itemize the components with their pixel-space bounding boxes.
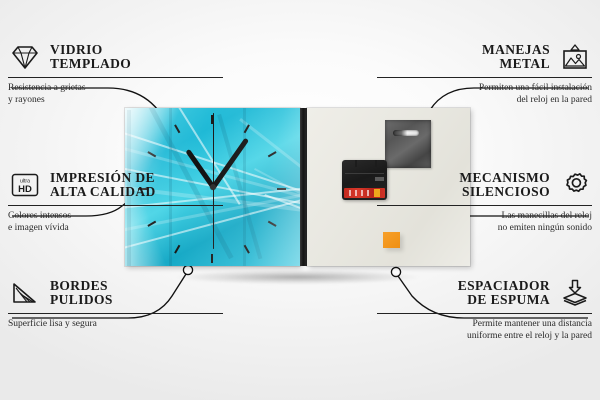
feature-divider — [8, 77, 223, 78]
gear-icon — [558, 170, 592, 200]
feature-divider — [377, 313, 592, 314]
infographic-canvas: VIDRIO TEMPLADO Resistencia a grietas y … — [0, 0, 600, 400]
feature-description: Superficie lisa y segura — [8, 319, 223, 331]
diamond-icon — [8, 42, 42, 72]
feature-description: Colores intensos e imagen vívida — [8, 211, 223, 234]
framed-picture-icon — [558, 42, 592, 72]
foam-spacer-square — [383, 232, 400, 248]
feature-header: ESPACIADOR DE ESPUMA — [377, 278, 592, 308]
arrow-onto-layers-icon — [558, 278, 592, 308]
feature-manejas-metal[interactable]: MANEJAS METAL Permiten una fácil instala… — [377, 42, 592, 106]
feature-description: Permiten una fácil instalación del reloj… — [377, 83, 592, 106]
metal-hanger-plate — [385, 120, 431, 168]
feature-header: MECANISMO SILENCIOSO — [377, 170, 592, 200]
polished-edge-icon — [8, 278, 42, 308]
ultra-hd-badge-icon: ultra HD — [8, 170, 42, 200]
feature-header: ultra HD IMPRESIÓN DE ALTA CALIDAD — [8, 170, 223, 200]
mechanism-hanging-loop — [355, 160, 377, 167]
feature-title: MANEJAS METAL — [482, 43, 550, 71]
feature-description: Resistencia a grietas y rayones — [8, 83, 223, 106]
feature-header: VIDRIO TEMPLADO — [8, 42, 223, 72]
feature-header: MANEJAS METAL — [377, 42, 592, 72]
feature-espaciador-de-espuma[interactable]: ESPACIADOR DE ESPUMA Permite mantener un… — [377, 278, 592, 342]
feature-impresion-alta-calidad[interactable]: ultra HD IMPRESIÓN DE ALTA CALIDAD Color… — [8, 170, 223, 234]
feature-divider — [8, 205, 223, 206]
feature-header: BORDES PULIDOS — [8, 278, 223, 308]
feature-divider — [8, 313, 223, 314]
feature-divider — [377, 77, 592, 78]
feature-mecanismo-silencioso[interactable]: MECANISMO SILENCIOSO Las manecillas del … — [377, 170, 592, 234]
feature-title: VIDRIO TEMPLADO — [50, 43, 131, 71]
feature-title: BORDES PULIDOS — [50, 279, 113, 307]
panel-edge-spine — [300, 108, 307, 266]
svg-text:HD: HD — [18, 184, 32, 195]
feature-title: IMPRESIÓN DE ALTA CALIDAD — [50, 171, 156, 199]
feature-vidrio-templado[interactable]: VIDRIO TEMPLADO Resistencia a grietas y … — [8, 42, 223, 106]
feature-title: ESPACIADOR DE ESPUMA — [458, 279, 550, 307]
feature-description: Las manecillas del reloj no emiten ningú… — [377, 211, 592, 234]
feature-divider — [377, 205, 592, 206]
hanger-slot — [393, 130, 419, 136]
feature-title: MECANISMO SILENCIOSO — [459, 171, 550, 199]
feature-bordes-pulidos[interactable]: BORDES PULIDOS Superficie lisa y segura — [8, 278, 223, 331]
feature-description: Permite mantener una distancia uniforme … — [377, 319, 592, 342]
